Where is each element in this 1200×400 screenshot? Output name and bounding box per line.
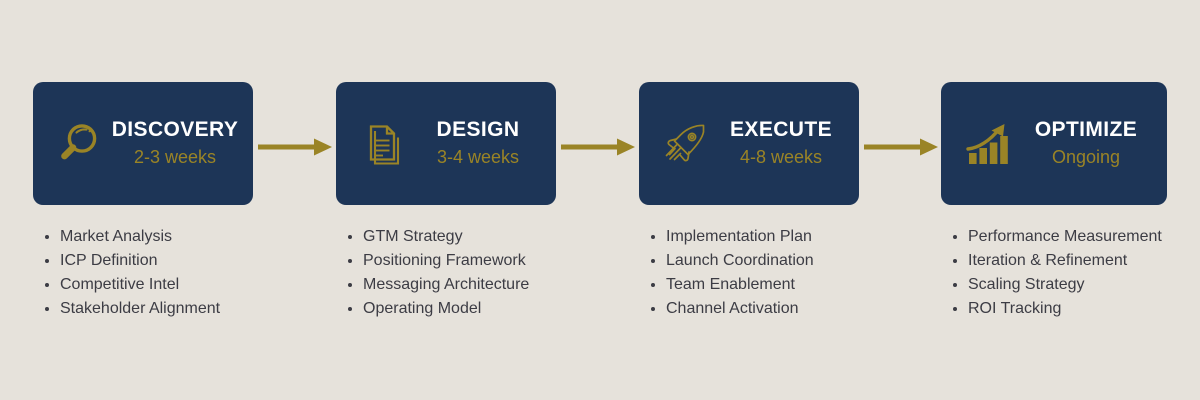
process-flow-diagram: DISCOVERY 2-3 weeks Market Analysis ICP … bbox=[0, 0, 1200, 400]
phase-card-discovery[interactable]: DISCOVERY 2-3 weeks bbox=[33, 82, 253, 205]
phase-bullet-list: Market Analysis ICP Definition Competiti… bbox=[33, 225, 220, 321]
list-item: Implementation Plan bbox=[639, 225, 814, 249]
phase-bullet-list: GTM Strategy Positioning Framework Messa… bbox=[336, 225, 529, 321]
growth-chart-icon bbox=[959, 116, 1015, 172]
phase-optimize: OPTIMIZE Ongoing Performance Measurement… bbox=[941, 82, 1167, 205]
phase-label-group: OPTIMIZE Ongoing bbox=[1015, 118, 1167, 169]
list-item: Positioning Framework bbox=[336, 249, 529, 273]
list-item: Operating Model bbox=[336, 297, 529, 321]
phase-label-group: EXECUTE 4-8 weeks bbox=[713, 118, 859, 169]
phase-duration: 4-8 weeks bbox=[740, 145, 822, 169]
phase-execute: EXECUTE 4-8 weeks Implementation Plan La… bbox=[639, 82, 859, 205]
phase-duration: 3-4 weeks bbox=[437, 145, 519, 169]
phase-card-design[interactable]: DESIGN 3-4 weeks bbox=[336, 82, 556, 205]
list-item: Performance Measurement bbox=[941, 225, 1162, 249]
phase-bullet-list: Performance Measurement Iteration & Refi… bbox=[941, 225, 1162, 321]
list-item: Scaling Strategy bbox=[941, 273, 1162, 297]
document-icon bbox=[354, 116, 410, 172]
phase-label-group: DISCOVERY 2-3 weeks bbox=[107, 118, 253, 169]
connector-execute-optimize bbox=[864, 137, 938, 157]
phase-discovery: DISCOVERY 2-3 weeks Market Analysis ICP … bbox=[33, 82, 253, 205]
magnifier-icon bbox=[51, 116, 107, 172]
phase-duration: Ongoing bbox=[1052, 145, 1120, 169]
list-item: Iteration & Refinement bbox=[941, 249, 1162, 273]
connector-discovery-design bbox=[258, 137, 332, 157]
phase-design: DESIGN 3-4 weeks GTM Strategy Positionin… bbox=[336, 82, 556, 205]
list-item: Stakeholder Alignment bbox=[33, 297, 220, 321]
phase-card-execute[interactable]: EXECUTE 4-8 weeks bbox=[639, 82, 859, 205]
list-item: Team Enablement bbox=[639, 273, 814, 297]
phase-card-optimize[interactable]: OPTIMIZE Ongoing bbox=[941, 82, 1167, 205]
phase-title: EXECUTE bbox=[730, 118, 832, 141]
list-item: Competitive Intel bbox=[33, 273, 220, 297]
connector-design-execute bbox=[561, 137, 635, 157]
phase-title: DESIGN bbox=[437, 118, 520, 141]
list-item: Launch Coordination bbox=[639, 249, 814, 273]
phase-title: OPTIMIZE bbox=[1035, 118, 1137, 141]
rocket-icon bbox=[657, 116, 713, 172]
list-item: ROI Tracking bbox=[941, 297, 1162, 321]
phase-title: DISCOVERY bbox=[112, 118, 239, 141]
list-item: GTM Strategy bbox=[336, 225, 529, 249]
list-item: Market Analysis bbox=[33, 225, 220, 249]
phase-duration: 2-3 weeks bbox=[134, 145, 216, 169]
phase-bullet-list: Implementation Plan Launch Coordination … bbox=[639, 225, 814, 321]
list-item: Messaging Architecture bbox=[336, 273, 529, 297]
phase-label-group: DESIGN 3-4 weeks bbox=[410, 118, 556, 169]
list-item: ICP Definition bbox=[33, 249, 220, 273]
list-item: Channel Activation bbox=[639, 297, 814, 321]
